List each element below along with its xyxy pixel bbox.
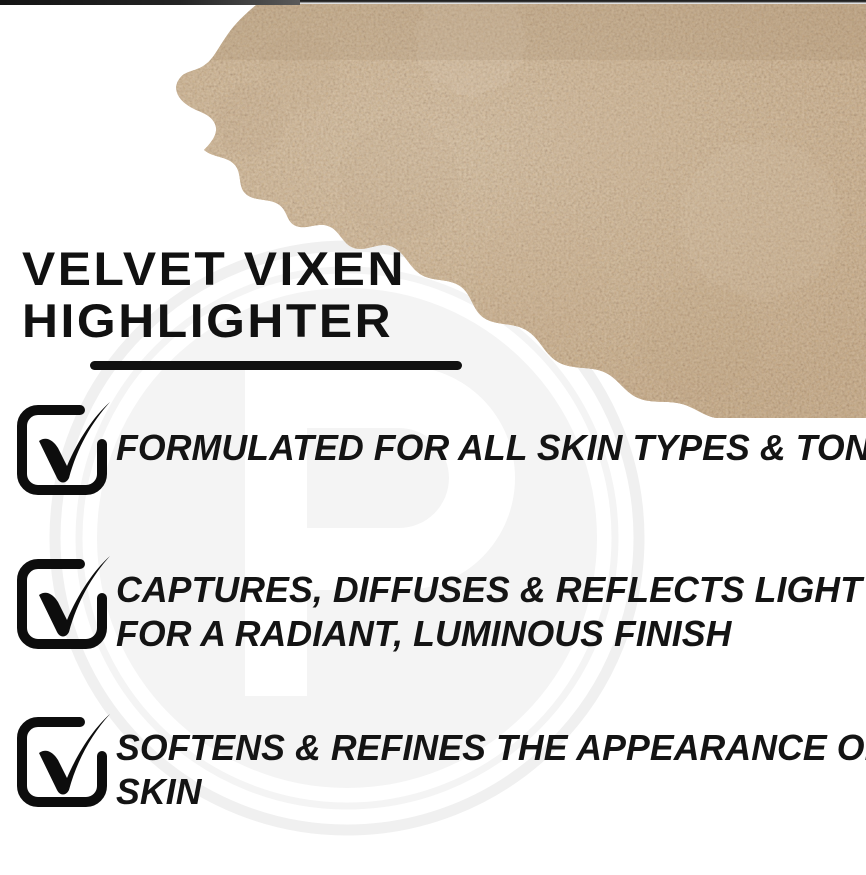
product-title-line-1: VELVET VIXEN <box>22 243 866 295</box>
feature-text: CAPTURES, DIFFUSES & REFLECTS LIGHT FOR … <box>116 550 866 656</box>
feature-text: FORMULATED FOR ALL SKIN TYPES & TONES <box>116 396 866 470</box>
feature-text-line: FOR A RADIANT, LUMINOUS FINISH <box>116 612 862 656</box>
checkbox-checked-icon <box>12 396 116 500</box>
product-feature-graphic: VELVET VIXEN HIGHLIGHTER FORMULATED FOR … <box>0 0 866 875</box>
top-edge-strip-left <box>0 0 300 5</box>
product-title-line-2: HIGHLIGHTER <box>22 295 866 347</box>
content-layer: VELVET VIXEN HIGHLIGHTER FORMULATED FOR … <box>0 0 866 875</box>
feature-list: FORMULATED FOR ALL SKIN TYPES & TONES CA… <box>0 396 866 814</box>
feature-text-line: CAPTURES, DIFFUSES & REFLECTS LIGHT <box>116 568 862 612</box>
title-underline-rule <box>90 361 462 370</box>
feature-item: FORMULATED FOR ALL SKIN TYPES & TONES <box>0 396 866 500</box>
feature-text-line: FORMULATED FOR ALL SKIN TYPES & TONES <box>116 426 866 470</box>
feature-text-line: SOFTENS & REFINES THE APPEARANCE OF <box>116 726 866 770</box>
feature-item: SOFTENS & REFINES THE APPEARANCE OF SKIN <box>0 708 866 814</box>
checkbox-checked-icon <box>12 550 116 654</box>
feature-text-line: SKIN <box>116 770 866 814</box>
product-title: VELVET VIXEN HIGHLIGHTER <box>22 243 842 347</box>
checkbox-checked-icon <box>12 708 116 812</box>
feature-text: SOFTENS & REFINES THE APPEARANCE OF SKIN <box>116 708 866 814</box>
feature-item: CAPTURES, DIFFUSES & REFLECTS LIGHT FOR … <box>0 550 866 656</box>
